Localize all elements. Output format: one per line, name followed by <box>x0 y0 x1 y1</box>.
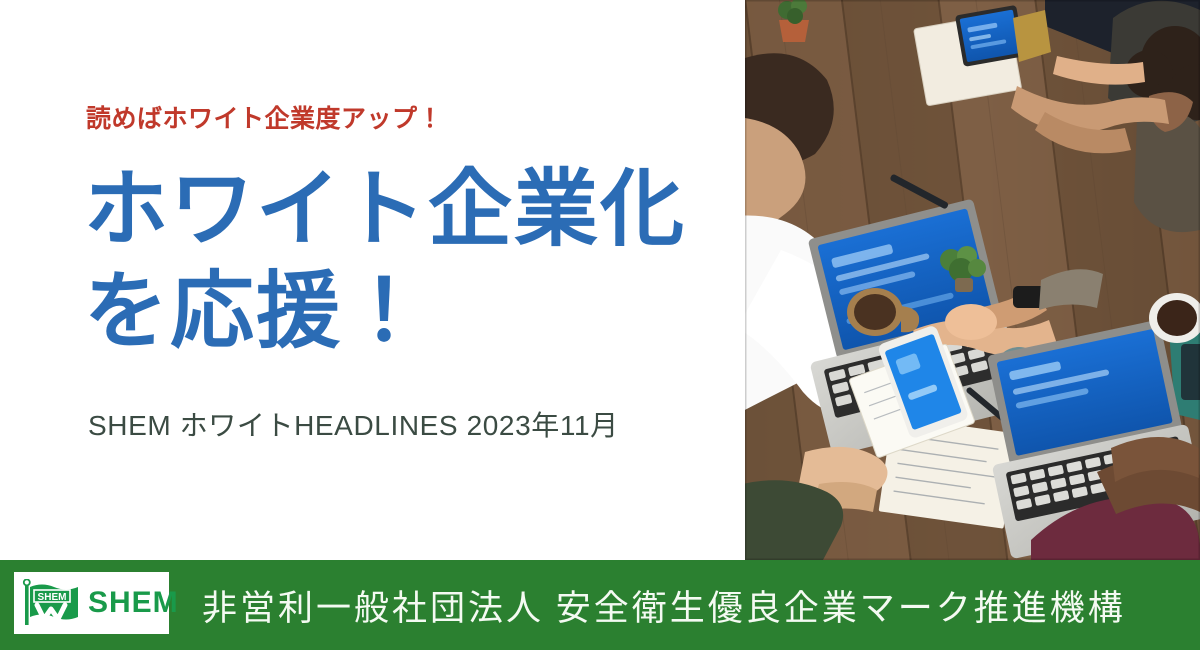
page-title: ホワイト企業化 を応援！ <box>84 158 686 363</box>
hero-photo <box>745 0 1200 560</box>
headline-line-1: ホワイト企業化 <box>84 158 686 260</box>
organization-name: 非営利一般社団法人 安全衛生優良企業マーク推進機構 <box>202 560 1126 650</box>
headline-line-2: を応援！ <box>84 260 686 362</box>
text-column: 読めばホワイト企業度アップ！ ホワイト企業化 を応援！ SHEM ホワイトHEA… <box>0 0 745 560</box>
shem-logo-text: SHEM <box>88 588 179 618</box>
footer-bar: SHEM SHEM 非営利一般社団法人 安全衛生優良企業マーク推進機構 <box>0 560 1200 650</box>
shem-logo[interactable]: SHEM SHEM <box>14 572 169 634</box>
flag-shem-text: SHEM <box>38 592 67 603</box>
tagline: 読めばホワイト企業度アップ！ <box>86 99 443 135</box>
shem-flag-icon: SHEM <box>20 579 82 627</box>
office-table-photo-illustration <box>745 0 1200 560</box>
subtitle: SHEM ホワイトHEADLINES 2023年11月 <box>88 404 619 444</box>
banner: 読めばホワイト企業度アップ！ ホワイト企業化 を応援！ SHEM ホワイトHEA… <box>0 0 1200 650</box>
